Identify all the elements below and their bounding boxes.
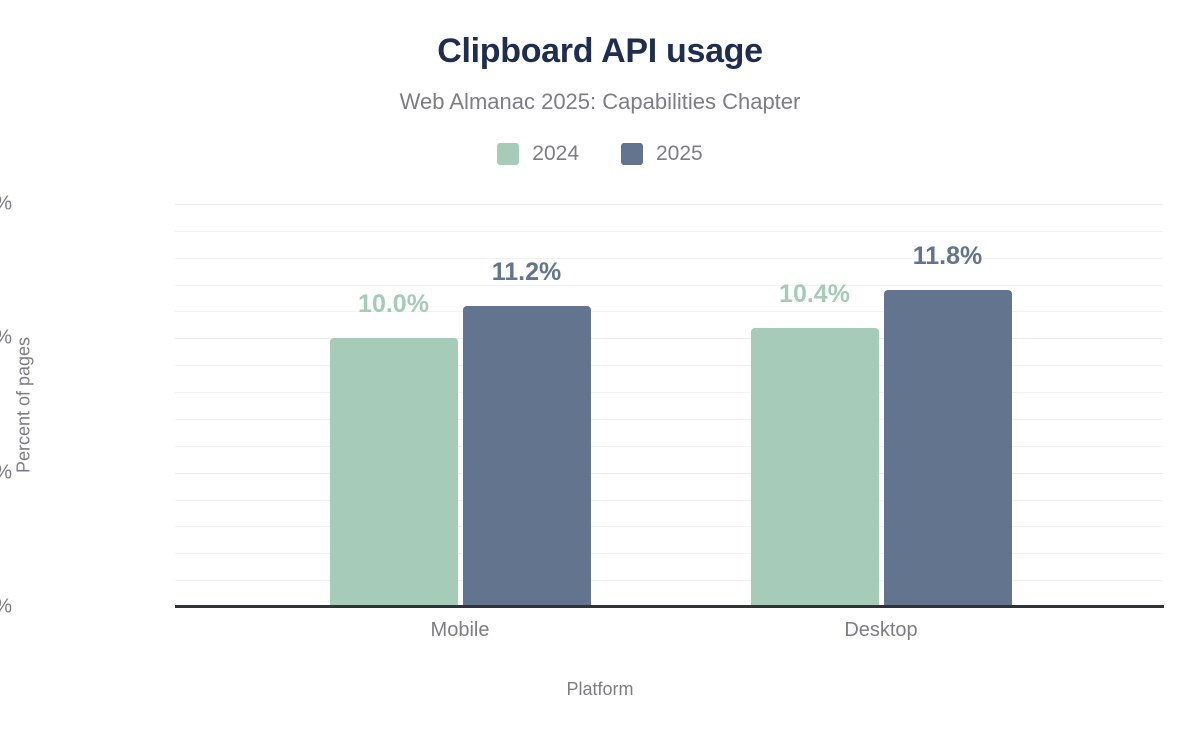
chart-legend: 2024 2025 [0,142,1200,166]
bar-mobile-2024[interactable] [330,338,458,607]
gridline [175,231,1163,232]
legend-label-2025: 2025 [656,142,703,166]
legend-label-2024: 2024 [532,142,579,166]
legend-swatch-2025 [621,143,643,165]
gridline [175,204,1163,205]
gridline [175,258,1163,259]
gridline [175,500,1163,501]
bar-mobile-2025[interactable] [463,306,591,607]
chart-subtitle: Web Almanac 2025: Capabilities Chapter [0,89,1200,115]
bar-value-label: 10.4% [779,280,850,309]
gridline [175,338,1163,339]
gridline [175,392,1163,393]
y-axis-tick-label: 10.0% [0,327,12,350]
gridline [175,553,1163,554]
chart-container: Clipboard API usage Web Almanac 2025: Ca… [0,0,1200,742]
bar-value-label: 10.0% [358,290,429,319]
gridline [175,365,1163,366]
legend-item-2025[interactable]: 2025 [621,142,703,166]
legend-item-2024[interactable]: 2024 [497,142,579,166]
x-axis-line [175,605,1164,608]
gridline [175,285,1163,286]
x-axis-title: Platform [0,679,1200,700]
y-axis-tick-label: 15.0% [0,193,12,216]
legend-swatch-2024 [497,143,519,165]
x-axis-tick-label: Desktop [844,619,917,642]
y-axis-tick-label: 5.0% [0,461,12,484]
chart-title: Clipboard API usage [0,32,1200,71]
gridline [175,526,1163,527]
bar-desktop-2024[interactable] [751,328,879,607]
bar-value-label: 11.2% [492,258,562,287]
gridline [175,311,1163,312]
gridline [175,473,1163,474]
bar-value-label: 11.8% [913,242,983,271]
y-axis-title: Percent of pages [14,337,35,473]
y-axis-tick-label: 0.0% [0,596,12,619]
bar-desktop-2025[interactable] [884,290,1012,607]
x-axis-tick-label: Mobile [431,619,490,642]
plot-area [175,204,1163,607]
gridline [175,580,1163,581]
gridline [175,419,1163,420]
gridline [175,446,1163,447]
